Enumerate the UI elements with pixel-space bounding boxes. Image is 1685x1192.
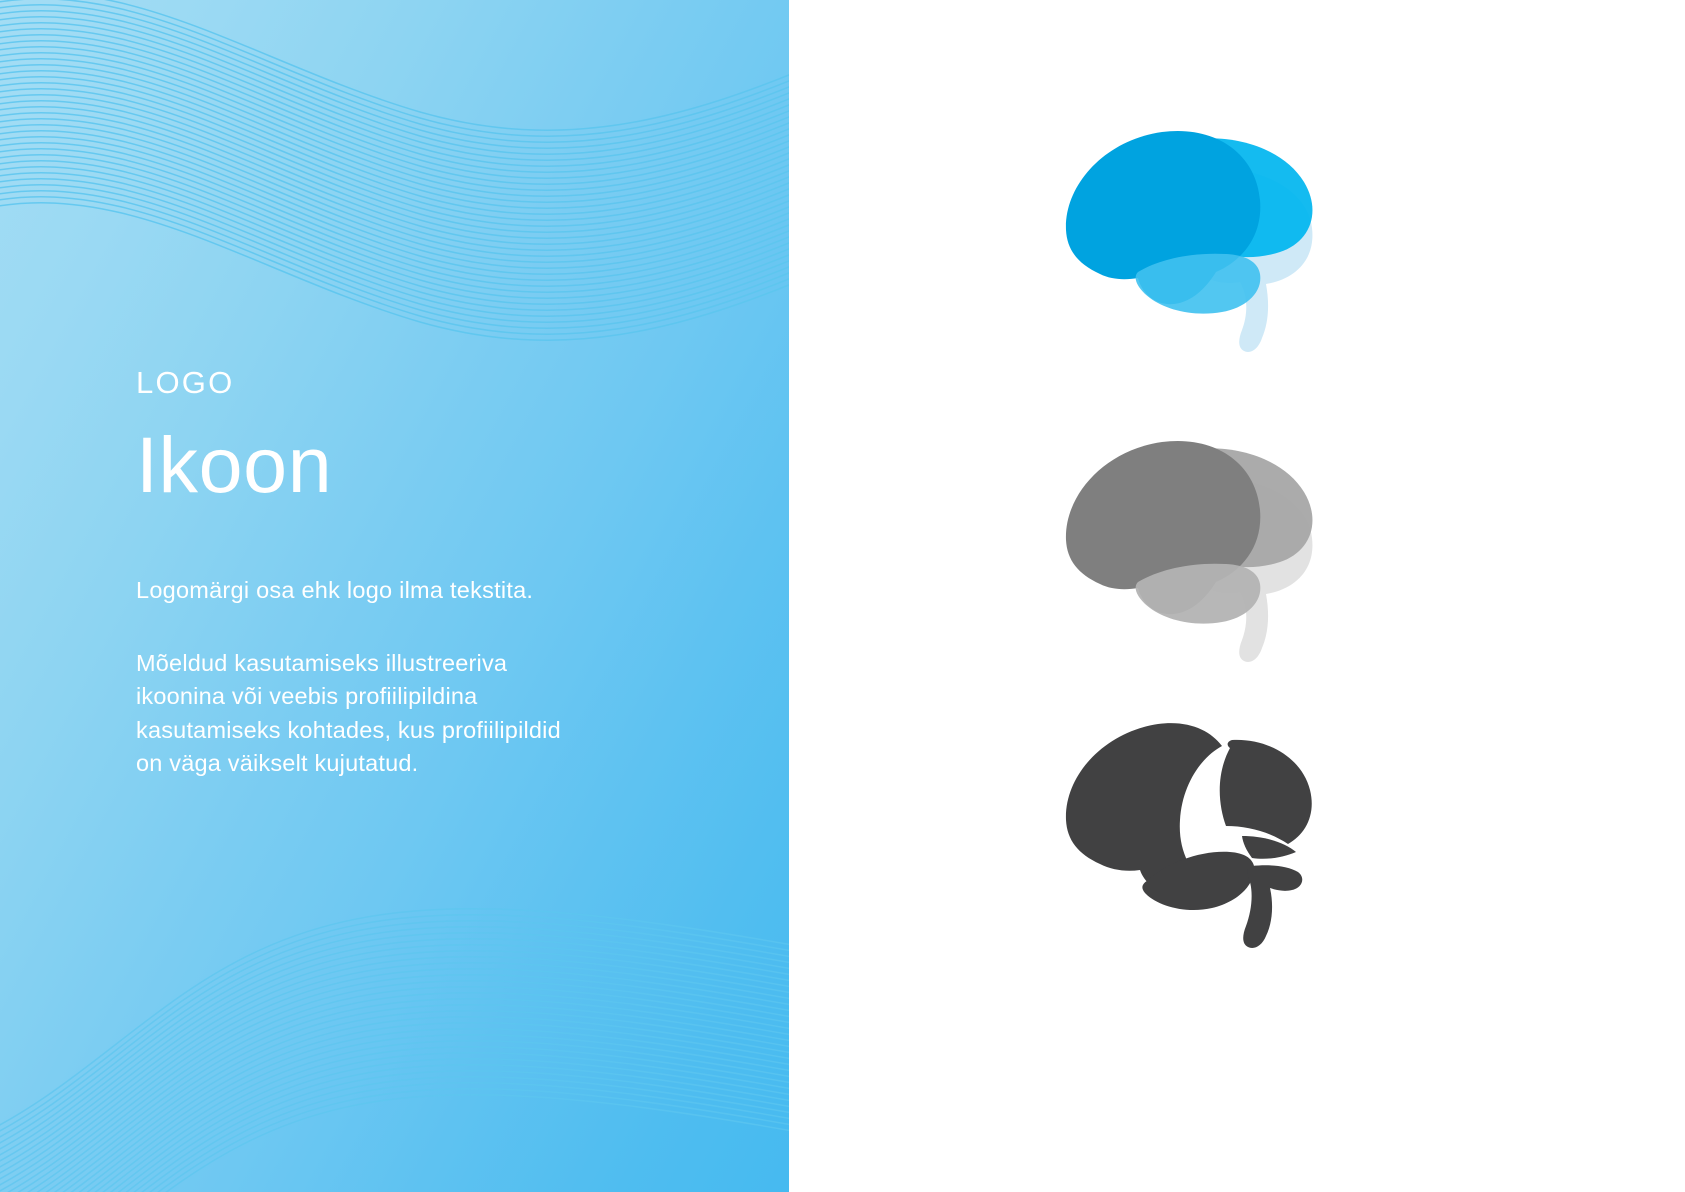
eyebrow-label: LOGO — [136, 366, 696, 400]
text-block: LOGO Ikoon Logomärgi osa ehk logo ilma t… — [136, 366, 696, 781]
brand-guide-slide: LOGO Ikoon Logomärgi osa ehk logo ilma t… — [0, 0, 1685, 1192]
brain-icon-grayscale — [1030, 420, 1320, 670]
logo-showcase-panel — [789, 0, 1685, 1192]
body-copy: Mõeldud kasutamiseks illustreeriva ikoon… — [136, 647, 636, 780]
subtitle-text: Logomärgi osa ehk logo ilma tekstita. — [136, 573, 696, 607]
body-line: Mõeldud kasutamiseks illustreeriva — [136, 647, 636, 680]
body-line: ikoonina või veebis profiilipildina — [136, 680, 636, 713]
brain-icon-monochrome — [1030, 700, 1320, 950]
brain-lobe-upper-right — [1220, 740, 1312, 844]
page-title: Ikoon — [136, 424, 696, 507]
body-line: kasutamiseks kohtades, kus profiilipildi… — [136, 714, 636, 747]
left-info-panel: LOGO Ikoon Logomärgi osa ehk logo ilma t… — [0, 0, 789, 1192]
body-line: on väga väikselt kujutatud. — [136, 747, 636, 780]
brain-stem — [1243, 865, 1302, 948]
brain-icon-colour — [1030, 110, 1320, 360]
